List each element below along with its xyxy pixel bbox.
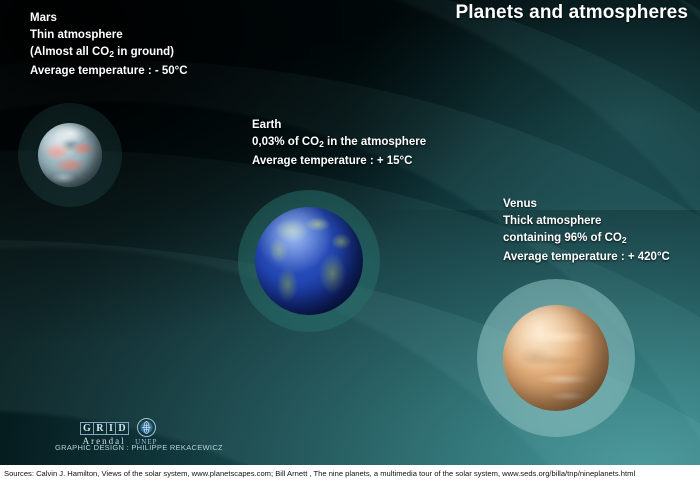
grid-letters: G R I D <box>80 422 128 435</box>
mars-co2-post: in ground) <box>114 46 174 58</box>
earth-label-co2: 0,03% of CO2 in the atmosphere <box>252 134 426 153</box>
footer-bar: Sources: Calvin J. Hamilton, Views of th… <box>0 465 700 486</box>
unep-globe-icon <box>137 418 156 437</box>
grid-letter-g: G <box>80 422 94 435</box>
venus-label-temperature: Average temperature : + 420°C <box>503 249 670 266</box>
mars-label-co2: (Almost all CO2 in ground) <box>30 44 188 63</box>
venus-co2-pre: containing 96% of CO <box>503 232 622 244</box>
mars-label-atmosphere: Thin atmosphere <box>30 27 188 44</box>
earth-planet <box>255 207 363 315</box>
unep-logo: UNEP <box>135 418 157 446</box>
earth-co2-pre: 0,03% of CO <box>252 136 319 148</box>
earth-info-block: Earth 0,03% of CO2 in the atmosphere Ave… <box>252 117 426 170</box>
mars-label-temperature: Average temperature : - 50°C <box>30 63 188 80</box>
venus-co2-subscript: 2 <box>622 235 627 245</box>
venus-label-name: Venus <box>503 196 670 213</box>
grid-letter-r: R <box>93 422 107 435</box>
mars-co2-pre: (Almost all CO <box>30 46 109 58</box>
logo-group: G R I D Arendal UNEP <box>80 418 157 446</box>
earth-co2-post: in the atmosphere <box>324 136 426 148</box>
sources-text: Sources: Calvin J. Hamilton, Views of th… <box>4 469 635 478</box>
earth-label-temperature: Average temperature : + 15°C <box>252 153 426 170</box>
infographic-poster: Planets and atmospheres Mars Thin atmosp… <box>0 0 700 486</box>
mars-info-block: Mars Thin atmosphere (Almost all CO2 in … <box>30 10 188 80</box>
page-title: Planets and atmospheres <box>456 2 689 24</box>
grid-letter-d: D <box>115 422 129 435</box>
venus-planet <box>503 305 609 411</box>
graphic-design-credit: GRAPHIC DESIGN : PHILIPPE REKACEWICZ <box>55 443 223 452</box>
earth-label-name: Earth <box>252 117 426 134</box>
mars-label-name: Mars <box>30 10 188 27</box>
venus-label-atmosphere: Thick atmosphere <box>503 213 670 230</box>
mars-planet <box>38 123 102 187</box>
venus-info-block: Venus Thick atmosphere containing 96% of… <box>503 196 670 266</box>
venus-label-co2: containing 96% of CO2 <box>503 230 670 249</box>
